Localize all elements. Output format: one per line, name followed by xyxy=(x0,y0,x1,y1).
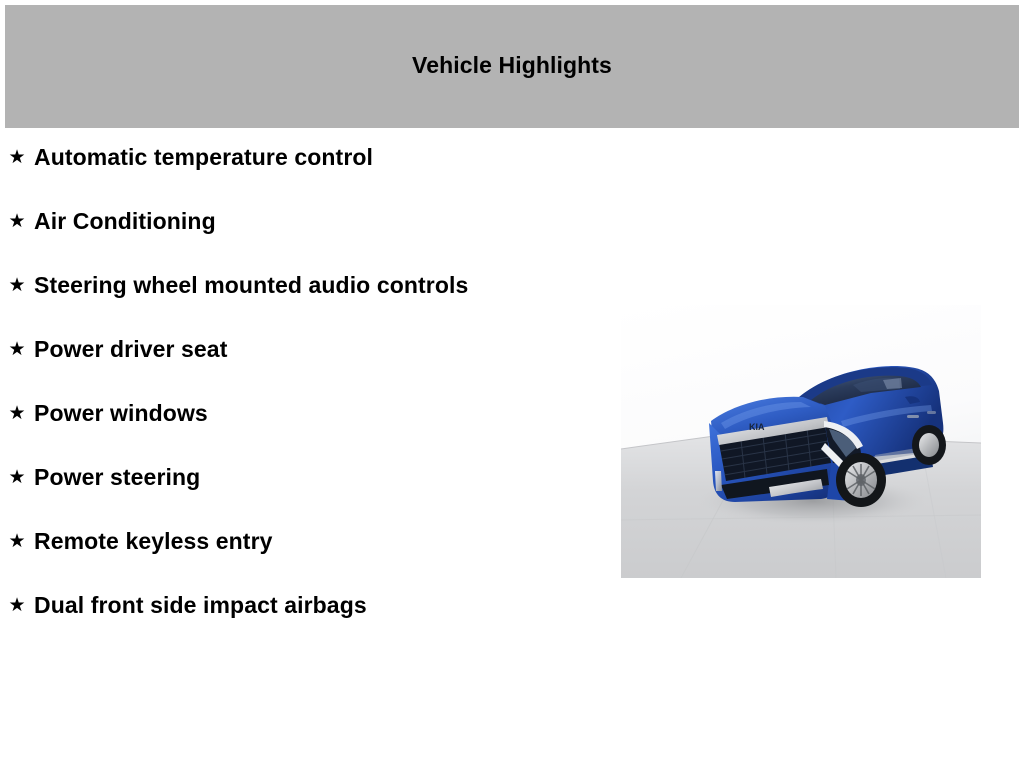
list-item: ★ Dual front side impact airbags xyxy=(0,590,600,621)
feature-label: Steering wheel mounted audio controls xyxy=(34,270,539,301)
star-icon: ★ xyxy=(0,398,34,429)
page-title: Vehicle Highlights xyxy=(412,54,612,77)
list-item: ★ Power windows xyxy=(0,398,600,429)
bumper-side-trim xyxy=(715,471,722,491)
star-icon: ★ xyxy=(0,206,34,237)
star-icon: ★ xyxy=(0,526,34,557)
feature-label: Air Conditioning xyxy=(34,206,539,237)
feature-label: Dual front side impact airbags xyxy=(34,590,539,621)
vehicle-photo-image: KIA xyxy=(621,305,981,578)
list-item: ★ Air Conditioning xyxy=(0,206,600,237)
vehicle-highlights-page: Vehicle Highlights ★ Automatic temperatu… xyxy=(0,0,1024,768)
list-item: ★ Automatic temperature control xyxy=(0,142,600,173)
star-icon: ★ xyxy=(0,270,34,301)
feature-label: Remote keyless entry xyxy=(34,526,539,557)
feature-label: Power windows xyxy=(34,398,539,429)
feature-label: Power steering xyxy=(34,462,539,493)
feature-label: Power driver seat xyxy=(34,334,539,365)
list-item: ★ Power driver seat xyxy=(0,334,600,365)
star-icon: ★ xyxy=(0,334,34,365)
star-icon: ★ xyxy=(0,462,34,493)
list-item: ★ Steering wheel mounted audio controls xyxy=(0,270,600,301)
header-band: Vehicle Highlights xyxy=(5,5,1019,128)
door-handle xyxy=(927,411,936,414)
door-handle xyxy=(907,415,919,418)
vehicle-photo: KIA xyxy=(621,305,981,578)
star-icon: ★ xyxy=(0,142,34,173)
rear-rim xyxy=(919,433,939,457)
kia-badge: KIA xyxy=(749,422,765,432)
star-icon: ★ xyxy=(0,590,34,621)
list-item: ★ Remote keyless entry xyxy=(0,526,600,557)
list-item: ★ Power steering xyxy=(0,462,600,493)
feature-label: Automatic temperature control xyxy=(34,142,539,173)
vehicle-features-list: ★ Automatic temperature control ★ Air Co… xyxy=(0,142,600,654)
